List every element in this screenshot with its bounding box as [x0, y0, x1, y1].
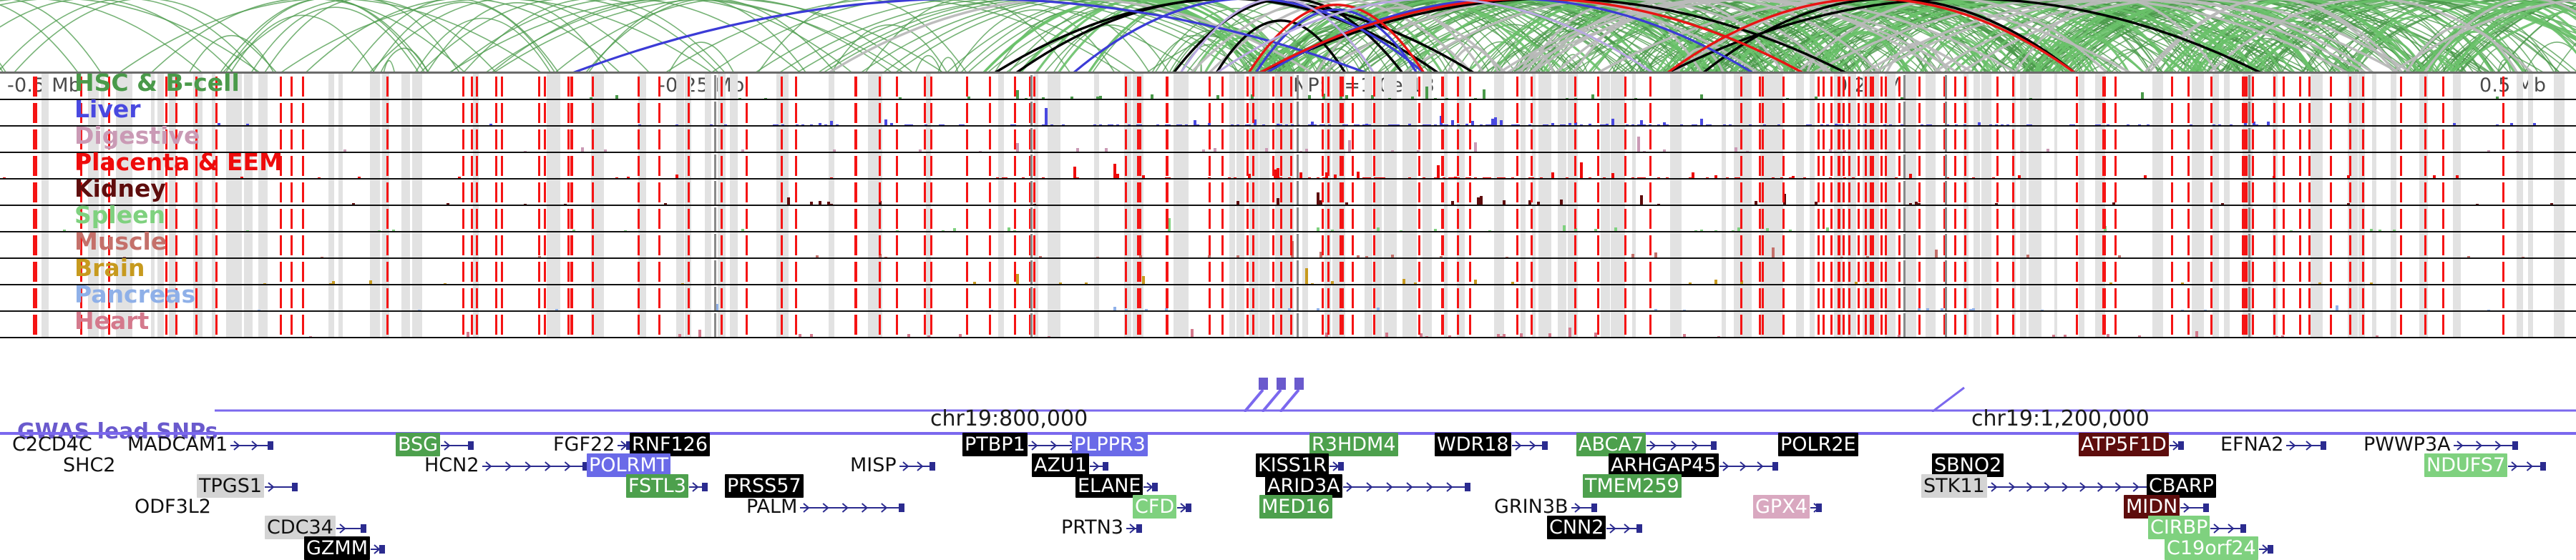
snp-tick: [80, 103, 82, 123]
snp-tick: [1442, 103, 1444, 123]
regulatory-band: [1926, 127, 1936, 153]
snp-tick: [1280, 103, 1282, 123]
snp-tick: [2502, 77, 2504, 97]
snp-tick: [1954, 129, 1956, 149]
snp-tick: [2252, 77, 2254, 97]
snp-tick: [471, 129, 473, 149]
regulatory-band: [1926, 100, 1936, 127]
regulatory-band: [1521, 153, 1526, 180]
regulatory-band: [730, 127, 738, 153]
regulatory-band: [1410, 153, 1417, 180]
snp-tick: [1830, 103, 1833, 123]
loop-arc: [493, 0, 944, 72]
regulatory-band: [1542, 74, 1551, 100]
snp-tick: [1898, 77, 1901, 97]
snp-tick: [658, 77, 660, 97]
snp-tick: [2330, 77, 2332, 97]
snp-tick: [2424, 103, 2426, 123]
snp-tick: [592, 77, 594, 97]
signal-track-placenta-eem[interactable]: [0, 153, 2576, 180]
regulatory-band: [412, 100, 422, 127]
snp-tick: [688, 103, 690, 123]
regulatory-band: [2311, 74, 2316, 100]
regulatory-band: [2198, 127, 2204, 153]
snp-tick: [1597, 103, 1599, 123]
regulatory-band: [412, 127, 422, 153]
reference-tick: [1030, 75, 1033, 99]
snp-tick: [592, 103, 594, 123]
loop-arc: [0, 0, 101, 72]
regulatory-band: [868, 127, 874, 153]
regulatory-band: [783, 127, 789, 153]
snp-tick: [1352, 129, 1354, 149]
signal-track-hsc-b-cell[interactable]: [0, 74, 2576, 100]
regulatory-band: [2372, 100, 2376, 127]
snp-tick: [1964, 103, 1966, 123]
regulatory-band: [1236, 153, 1244, 180]
snp-tick: [1964, 77, 1966, 97]
snp-tick: [1954, 77, 1956, 97]
regulatory-band: [705, 127, 711, 153]
snp-tick: [280, 129, 282, 149]
loop-arc: [2524, 42, 2576, 72]
snp-tick: [2076, 77, 2078, 97]
regulatory-band: [1926, 153, 1936, 180]
snp-tick: [2273, 77, 2275, 97]
regulatory-band: [1542, 127, 1551, 153]
regulatory-band: [1974, 127, 1980, 153]
regulatory-band: [328, 153, 334, 180]
regulatory-band: [2528, 74, 2533, 100]
loop-arc: [415, 19, 551, 72]
regulatory-band: [1384, 100, 1392, 127]
regulatory-band: [2079, 74, 2082, 100]
regulatory-band: [88, 100, 97, 127]
snp-tick: [476, 129, 478, 149]
snp-tick: [781, 77, 783, 97]
snp-tick: [1457, 129, 1459, 149]
regulatory-band: [1538, 153, 1542, 180]
snp-tick: [2252, 103, 2254, 123]
snp-tick: [896, 129, 898, 149]
snp-tick: [638, 129, 640, 149]
regulatory-band: [401, 74, 410, 100]
regulatory-band: [705, 74, 711, 100]
snp-tick: [1125, 129, 1127, 149]
snp-tick: [2104, 129, 2106, 149]
snp-tick: [1872, 129, 1874, 149]
regulatory-band: [705, 100, 711, 127]
snp-tick: [1221, 103, 1224, 123]
snp-tick: [896, 77, 898, 97]
snp-tick: [1418, 77, 1420, 97]
regulatory-band: [783, 74, 789, 100]
regulatory-band: [1722, 100, 1726, 127]
regulatory-band: [1229, 100, 1235, 127]
snp-tick: [1818, 77, 1820, 97]
regulatory-band: [2036, 74, 2041, 100]
regulatory-band: [370, 127, 378, 153]
snp-tick: [1221, 77, 1224, 97]
snp-tick: [1442, 129, 1444, 149]
regulatory-band: [730, 100, 738, 127]
regulatory-band: [1601, 74, 1610, 100]
regulatory-band: [1494, 74, 1504, 100]
regulatory-band: [2311, 100, 2316, 127]
snp-tick: [544, 77, 546, 97]
snp-tick: [291, 77, 293, 97]
snp-tick: [215, 103, 218, 123]
regulatory-band: [1632, 100, 1636, 127]
regulatory-band: [783, 153, 789, 180]
regulatory-band: [226, 153, 232, 180]
loop-arc: [665, 0, 1122, 72]
regulatory-band: [1000, 100, 1004, 127]
snp-tick: [2442, 103, 2444, 123]
snp-tick: [495, 103, 497, 123]
snp-tick: [165, 103, 167, 123]
snp-tick: [1918, 103, 1921, 123]
regulatory-band: [2517, 153, 2523, 180]
regulatory-band: [1384, 74, 1392, 100]
regulatory-band: [151, 100, 155, 127]
regulatory-band: [1094, 100, 1099, 127]
snp-tick: [195, 103, 197, 123]
regulatory-band: [1538, 127, 1542, 153]
signal-track-stack: [0, 74, 2576, 365]
signal-track-liver[interactable]: [0, 100, 2576, 127]
reference-tick: [1903, 102, 1906, 125]
reference-tick: [1030, 128, 1033, 152]
regulatory-band: [1236, 127, 1244, 153]
snp-tick: [1327, 77, 1330, 97]
snp-tick: [2243, 103, 2245, 123]
snp-tick: [33, 103, 35, 123]
snp-tick: [476, 77, 478, 97]
snp-tick: [1885, 129, 1887, 149]
snp-tick: [1327, 129, 1330, 149]
regulatory-band: [370, 100, 378, 127]
regulatory-band: [338, 74, 343, 100]
snp-tick: [638, 103, 640, 123]
regulatory-band: [338, 127, 343, 153]
regulatory-band: [1722, 74, 1726, 100]
snp-tick: [1818, 129, 1820, 149]
snp-tick: [2330, 129, 2332, 149]
arc-svg: [0, 0, 2576, 72]
snp-tick: [1272, 129, 1274, 149]
snp-tick: [688, 129, 690, 149]
loop-arc: [119, 0, 542, 72]
loop-arc: [225, 0, 425, 72]
regulatory-band: [193, 100, 203, 127]
snp-tick: [854, 103, 857, 123]
snp-tick: [1373, 77, 1375, 97]
regulatory-band: [2391, 127, 2396, 153]
regulatory-band: [1055, 127, 1060, 153]
regulatory-band: [1365, 153, 1372, 180]
snp-tick: [2283, 129, 2285, 149]
snp-tick: [2104, 77, 2106, 97]
snp-tick: [1865, 103, 1867, 123]
regulatory-band: [1179, 127, 1189, 153]
snp-tick: [2362, 77, 2364, 97]
snp-tick: [2210, 129, 2212, 149]
snp-tick: [1252, 103, 1254, 123]
loop-arc: [0, 0, 78, 72]
snp-tick: [1033, 103, 1035, 123]
snp-tick: [930, 103, 932, 123]
snp-tick: [1139, 129, 1141, 149]
snp-tick: [108, 103, 110, 123]
snp-tick: [1782, 129, 1785, 149]
regulatory-band: [1055, 153, 1060, 180]
snp-tick: [795, 129, 797, 149]
regulatory-band: [1632, 153, 1636, 180]
regulatory-band: [1365, 100, 1372, 127]
snp-tick: [495, 129, 497, 149]
regulatory-band: [101, 153, 104, 180]
regulatory-band: [1670, 153, 1677, 180]
snp-tick: [1918, 77, 1921, 97]
snp-tick: [1531, 103, 1533, 123]
snp-tick: [924, 129, 926, 149]
regulatory-band: [226, 100, 232, 127]
regulatory-band: [2054, 100, 2057, 127]
regulatory-band: [1229, 74, 1235, 100]
snp-tick: [1624, 103, 1626, 123]
snp-tick: [2171, 129, 2173, 149]
regulatory-band: [1542, 153, 1551, 180]
regulatory-band: [1410, 100, 1417, 127]
regulatory-band: [2212, 74, 2219, 100]
snp-tick: [1322, 77, 1324, 97]
snp-tick: [2349, 77, 2351, 97]
snp-tick: [930, 129, 932, 149]
regulatory-band: [2391, 153, 2396, 180]
snp-tick: [1872, 103, 1874, 123]
regulatory-band: [1259, 74, 1269, 100]
regulatory-band: [193, 153, 203, 180]
snp-tick: [1880, 103, 1883, 123]
regulatory-band: [2528, 100, 2533, 127]
snp-tick: [1954, 103, 1956, 123]
snp-tick: [80, 129, 82, 149]
snp-tick: [1139, 103, 1141, 123]
snp-tick: [108, 77, 110, 97]
regulatory-band: [1365, 127, 1372, 153]
signal-bar: [1637, 137, 1640, 153]
regulatory-band: [101, 100, 104, 127]
regulatory-band: [2224, 153, 2230, 180]
snp-tick: [1838, 103, 1840, 123]
snp-tick: [1246, 129, 1249, 149]
snp-tick: [1574, 103, 1576, 123]
snp-tick: [1442, 77, 1444, 97]
snp-tick: [1996, 129, 1999, 149]
snp-tick: [854, 129, 857, 149]
snp-tick: [1597, 77, 1599, 97]
snp-tick: [1740, 77, 1742, 97]
regulatory-band: [157, 127, 164, 153]
regulatory-band: [43, 127, 46, 153]
regulatory-band: [157, 100, 164, 127]
snp-tick: [33, 77, 35, 97]
regulatory-band: [328, 100, 334, 127]
regulatory-band: [1444, 74, 1448, 100]
snp-tick: [567, 129, 570, 149]
snp-tick: [567, 103, 570, 123]
regulatory-band: [2152, 100, 2163, 127]
snp-tick: [2502, 129, 2504, 149]
regulatory-band: [2020, 100, 2026, 127]
snp-tick: [1597, 129, 1599, 149]
snp-tick: [854, 77, 857, 97]
regulatory-band: [88, 74, 97, 100]
snp-tick: [989, 103, 991, 123]
snp-tick: [1898, 103, 1901, 123]
snp-tick: [538, 129, 540, 149]
snp-tick: [1209, 103, 1211, 123]
reference-tick: [714, 102, 716, 125]
snp-tick: [291, 129, 293, 149]
regulatory-band: [676, 127, 684, 153]
regulatory-band: [1981, 153, 1991, 180]
reference-tick: [2248, 102, 2250, 125]
snp-tick: [302, 103, 304, 123]
snp-tick: [966, 77, 968, 97]
snp-tick: [1823, 103, 1825, 123]
regulatory-band: [2020, 74, 2026, 100]
regulatory-band: [2557, 153, 2565, 180]
snp-tick: [33, 129, 35, 149]
snp-tick: [1033, 129, 1035, 149]
snp-tick: [2114, 129, 2117, 149]
snp-tick: [1838, 129, 1840, 149]
regulatory-band: [2054, 153, 2057, 180]
snp-tick: [280, 103, 282, 123]
regulatory-band: [643, 74, 646, 100]
regulatory-band: [1259, 153, 1269, 180]
snp-tick: [462, 129, 464, 149]
regulatory-band: [1558, 153, 1566, 180]
snp-tick: [1352, 77, 1354, 97]
snp-tick: [1885, 103, 1887, 123]
snp-tick: [1272, 103, 1274, 123]
regulatory-band: [122, 127, 132, 153]
regulatory-band: [328, 127, 334, 153]
regulatory-band: [370, 74, 378, 100]
snp-tick: [1139, 77, 1141, 97]
regulatory-band: [2036, 100, 2041, 127]
snp-tick: [280, 77, 282, 97]
snp-tick: [544, 103, 546, 123]
regulatory-band: [2224, 74, 2230, 100]
regulatory-band: [2212, 153, 2219, 180]
reference-tick: [1030, 102, 1033, 125]
regulatory-band: [868, 74, 874, 100]
snp-tick: [2104, 103, 2106, 123]
regulatory-band: [2557, 74, 2565, 100]
regulatory-band: [1302, 153, 1308, 180]
regulatory-band: [2079, 153, 2082, 180]
reference-tick: [1945, 102, 1947, 125]
snp-tick: [1649, 129, 1652, 149]
reference-tick: [2248, 75, 2250, 99]
regulatory-band: [1722, 153, 1726, 180]
snp-tick: [215, 77, 218, 97]
regulatory-band: [1423, 100, 1432, 127]
snp-tick: [462, 77, 464, 97]
regulatory-band: [1558, 127, 1566, 153]
snp-tick: [795, 103, 797, 123]
loop-arc: [0, 14, 4, 72]
regulatory-band: [1384, 153, 1392, 180]
snp-tick: [1252, 77, 1254, 97]
snp-tick: [471, 77, 473, 97]
snp-tick: [1469, 103, 1471, 123]
regulatory-band: [2020, 127, 2026, 153]
snp-tick: [1858, 129, 1860, 149]
snp-tick: [879, 77, 881, 97]
regulatory-band: [244, 74, 253, 100]
snp-tick: [80, 77, 82, 97]
snp-tick: [721, 129, 723, 149]
reference-tick: [1297, 128, 1299, 152]
loop-arc: [384, 61, 394, 72]
loop-arc: [0, 14, 6, 72]
regulatory-band: [643, 100, 646, 127]
loop-arc: [230, 15, 375, 72]
chromatin-loop-arcs: [0, 0, 2576, 72]
snp-tick: [2299, 129, 2301, 149]
regulatory-band: [1229, 127, 1235, 153]
regulatory-band: [1632, 74, 1636, 100]
signal-track-digestive[interactable]: [0, 127, 2576, 153]
snp-tick: [1848, 77, 1850, 97]
regulatory-band: [2391, 100, 2396, 127]
regulatory-band: [1444, 100, 1448, 127]
regulatory-band: [547, 74, 557, 100]
regulatory-band: [1611, 74, 1618, 100]
regulatory-band: [2453, 127, 2461, 153]
regulatory-band: [2517, 100, 2523, 127]
snp-tick: [2362, 129, 2364, 149]
regulatory-band: [1229, 153, 1235, 180]
snp-tick: [1280, 129, 1282, 149]
snp-tick: [1759, 77, 1761, 97]
regulatory-band: [122, 153, 132, 180]
regulatory-band: [1302, 100, 1308, 127]
regulatory-band: [2198, 153, 2204, 180]
regulatory-band: [401, 153, 410, 180]
snp-tick: [1823, 77, 1825, 97]
regulatory-band: [1926, 74, 1936, 100]
snp-tick: [1209, 77, 1211, 97]
regulatory-band: [1094, 127, 1099, 153]
snp-tick: [2442, 129, 2444, 149]
reference-tick: [1945, 75, 1947, 99]
regulatory-band: [783, 100, 789, 127]
regulatory-band: [1796, 100, 1804, 127]
snp-tick: [781, 103, 783, 123]
snp-tick: [1865, 77, 1867, 97]
snp-tick: [1858, 103, 1860, 123]
snp-tick: [2243, 77, 2245, 97]
snp-tick: [1166, 103, 1169, 123]
snp-tick: [1823, 129, 1825, 149]
regulatory-band: [2372, 127, 2376, 153]
